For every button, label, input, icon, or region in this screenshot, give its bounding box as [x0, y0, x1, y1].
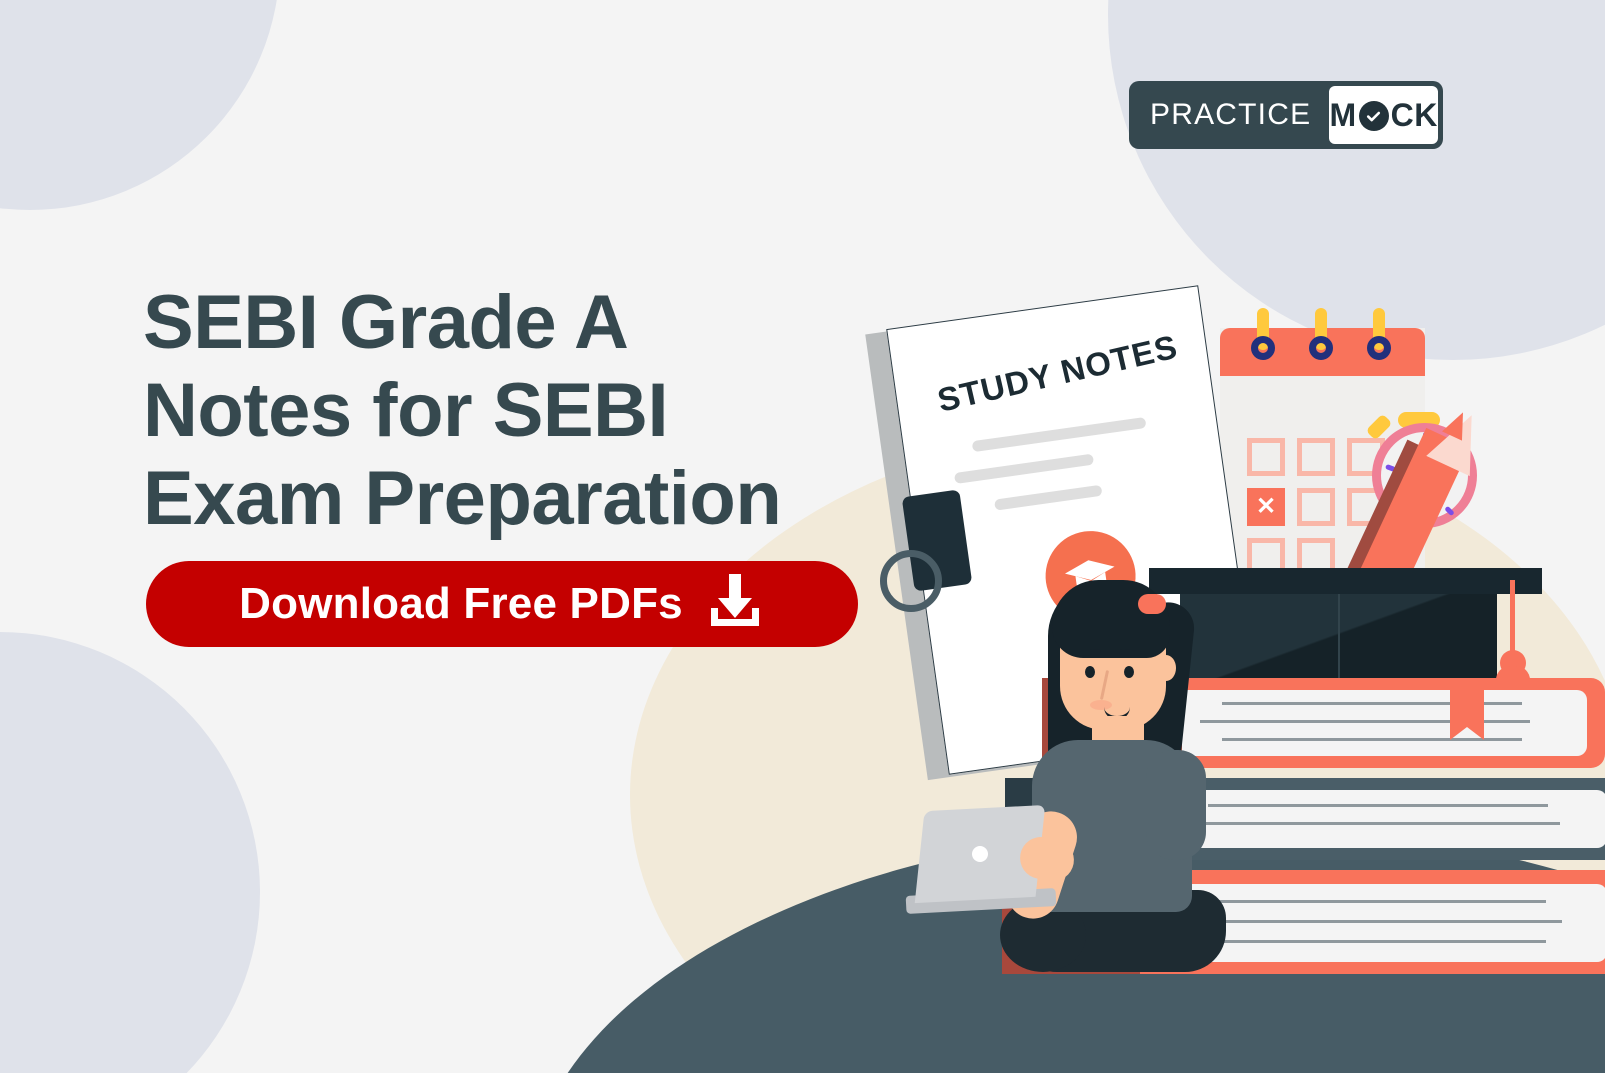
calendar-ring-loop — [1367, 336, 1391, 360]
calendar-cell — [1297, 438, 1335, 476]
notes-placeholder-line — [994, 485, 1102, 511]
calendar-cell — [1247, 438, 1285, 476]
headline-line-3: Exam Preparation — [143, 455, 903, 543]
download-icon — [705, 572, 765, 637]
tassel-cord — [1510, 580, 1515, 658]
calendar-ring-loop — [1251, 336, 1275, 360]
notes-placeholder-line — [954, 454, 1094, 484]
person-sleeve — [1146, 750, 1206, 860]
notes-placeholder-line — [972, 417, 1147, 452]
headline-line-1: SEBI Grade A — [143, 279, 903, 367]
cta-label: Download Free PDFs — [239, 582, 683, 626]
brand-logo[interactable]: PRACTICE M CK — [1129, 81, 1443, 149]
person-hair-tie — [1138, 594, 1166, 614]
brand-logo-mock-panel: M CK — [1329, 86, 1438, 144]
book-pages — [1172, 790, 1605, 848]
person-eye — [1085, 666, 1095, 678]
brand-logo-practice-text: PRACTICE — [1134, 100, 1329, 130]
x-mark-icon: ✕ — [1247, 488, 1285, 526]
person-ear — [1156, 655, 1176, 681]
background-circle-bottom-left — [0, 632, 260, 1073]
laptop-logo — [972, 846, 988, 862]
brand-logo-mock-m: M — [1329, 99, 1356, 131]
calendar-ring-loop — [1309, 336, 1333, 360]
mortarboard-seam — [1338, 588, 1340, 686]
person-hair-front — [1052, 580, 1170, 658]
binder-clip-ring — [880, 550, 942, 612]
book-pages — [1182, 690, 1587, 756]
check-icon — [1359, 101, 1389, 131]
promo-banner: PRACTICE M CK SEBI Grade A Notes for SEB… — [0, 0, 1605, 1073]
background-circle-top-left — [0, 0, 280, 210]
study-notes-title: STUDY NOTES — [934, 328, 1181, 420]
calendar-cell — [1297, 488, 1335, 526]
study-illustration: ✕ STUDY NOTES — [820, 250, 1605, 1073]
mortarboard-icon — [1149, 568, 1542, 594]
person-eye — [1124, 666, 1134, 678]
download-free-pdfs-button[interactable]: Download Free PDFs — [146, 561, 858, 647]
page-title: SEBI Grade A Notes for SEBI Exam Prepara… — [143, 279, 903, 543]
headline-line-2: Notes for SEBI — [143, 367, 903, 455]
book-pages — [1162, 884, 1605, 962]
brand-logo-mock-ck: CK — [1391, 99, 1438, 131]
